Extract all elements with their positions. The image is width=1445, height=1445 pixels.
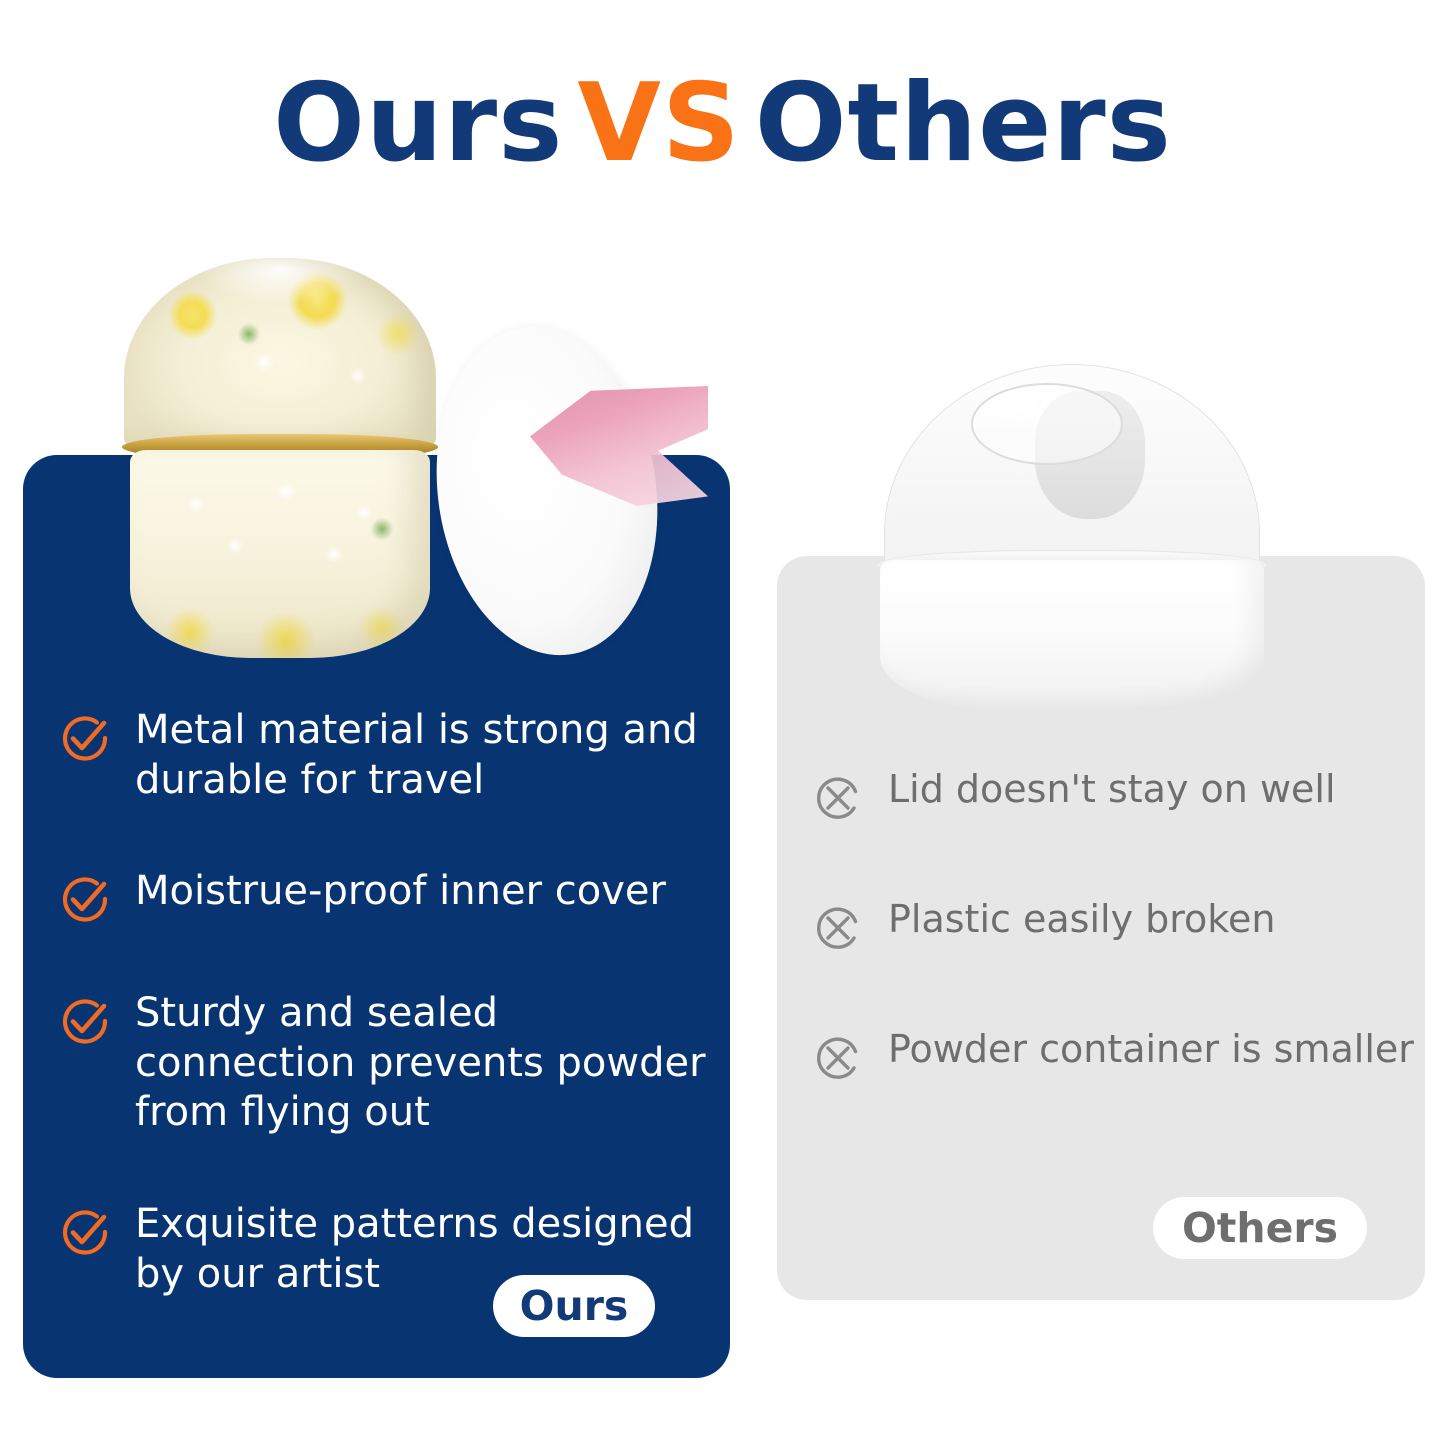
list-item-label: Metal material is strong and durable for… [135, 706, 717, 805]
list-item: Lid doesn't stay on well [810, 766, 1410, 826]
title-word-vs: VS [577, 61, 740, 186]
ours-badge: Ours [493, 1275, 655, 1337]
list-item-label: Moistrue-proof inner cover [135, 867, 666, 917]
list-item: Metal material is strong and durable for… [57, 706, 717, 805]
ours-product-image [120, 258, 680, 678]
dome-opening-ring [971, 383, 1123, 465]
list-item-label: Lid doesn't stay on well [888, 766, 1336, 813]
ours-feature-list: Metal material is strong and durable for… [57, 706, 717, 1299]
check-circle-icon [57, 871, 113, 927]
tin-body [130, 450, 430, 658]
x-circle-icon [810, 900, 866, 956]
list-item: Powder container is smaller [810, 1026, 1410, 1086]
x-circle-icon [810, 770, 866, 826]
check-circle-icon [57, 710, 113, 766]
list-item-label: Plastic easily broken [888, 896, 1275, 943]
title-word-ours: Ours [273, 61, 563, 186]
others-product-image [866, 364, 1278, 712]
list-item-label: Sturdy and sealed connection prevents po… [135, 989, 717, 1138]
tin-lid [124, 258, 436, 448]
plastic-base [880, 560, 1264, 710]
x-circle-icon [810, 1030, 866, 1086]
others-badge-label: Others [1182, 1204, 1338, 1252]
title-word-others: Others [755, 61, 1172, 186]
ours-badge-label: Ours [520, 1282, 629, 1330]
others-drawback-list: Lid doesn't stay on well Plastic easily … [810, 766, 1410, 1086]
list-item: Moistrue-proof inner cover [57, 867, 717, 927]
others-badge: Others [1153, 1197, 1367, 1259]
check-circle-icon [57, 1204, 113, 1260]
clear-dome-lid [884, 364, 1260, 574]
list-item: Sturdy and sealed connection prevents po… [57, 989, 717, 1138]
metal-tin-graphic [120, 258, 440, 658]
list-item: Plastic easily broken [810, 896, 1410, 956]
list-item-label: Powder container is smaller [888, 1026, 1414, 1073]
page-title: OursVSOthers [0, 62, 1445, 186]
check-circle-icon [57, 993, 113, 1049]
